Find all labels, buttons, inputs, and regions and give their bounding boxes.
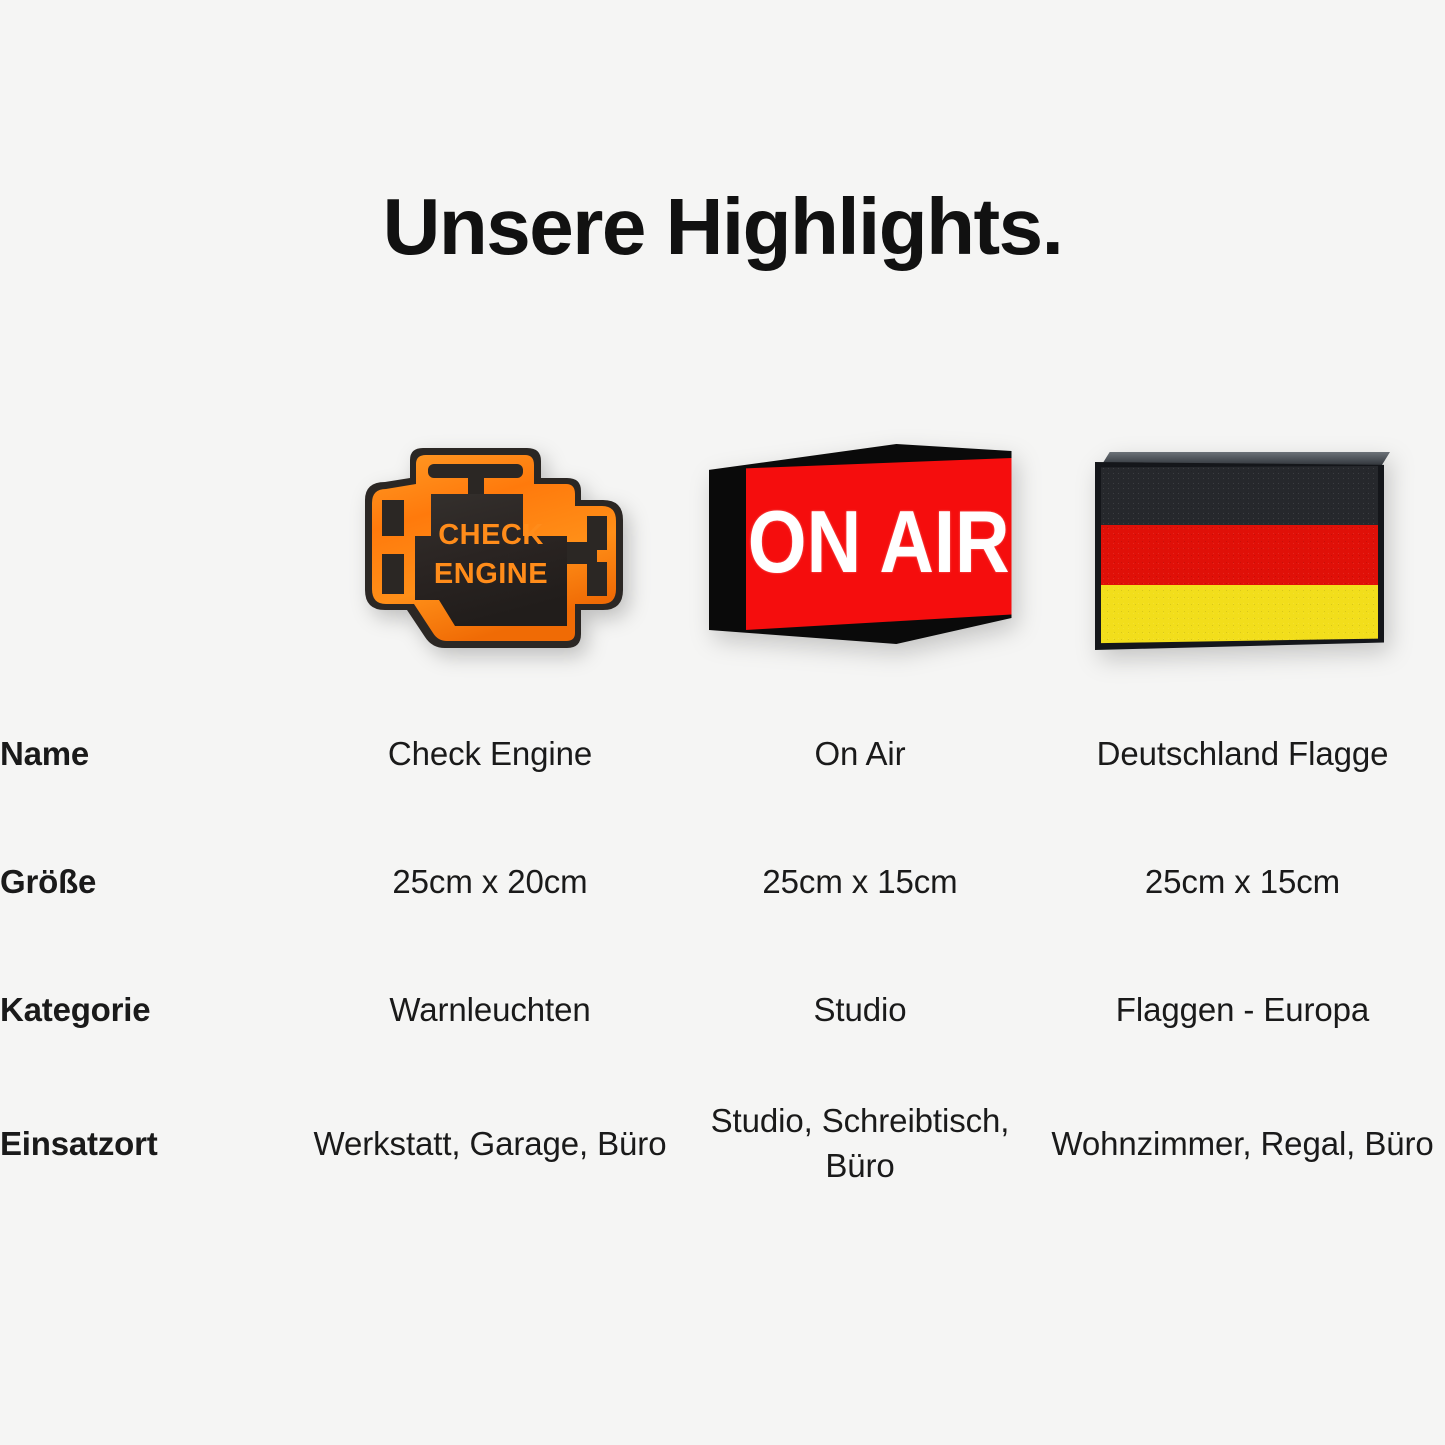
table-row-name: Name Check Engine On Air Deutschland Fla…	[0, 690, 1445, 818]
cell-kategorie-check-engine: Warnleuchten	[300, 946, 680, 1074]
check-engine-lamp-icon[interactable]: CHECK ENGINE	[335, 438, 645, 670]
deutschland-flagge-lightbox-icon[interactable]	[1095, 452, 1390, 650]
on-air-red-face: ON AIR	[746, 458, 1012, 630]
cell-groesse-deutschland-flagge: 25cm x 15cm	[1040, 818, 1445, 946]
table-row-einsatzort: Einsatzort Werkstatt, Garage, Büro Studi…	[0, 1074, 1445, 1214]
product-row-spacer	[0, 400, 300, 670]
flag-stripe-gold	[1101, 585, 1378, 644]
row-label-groesse: Größe	[0, 818, 300, 946]
cell-einsatzort-on-air: Studio, Schreibtisch, Büro	[680, 1074, 1040, 1214]
check-engine-text-line1: CHECK	[438, 519, 544, 551]
cell-kategorie-on-air: Studio	[680, 946, 1040, 1074]
page-title: Unsere Highlights.	[0, 187, 1445, 267]
cell-name-deutschland-flagge: Deutschland Flagge	[1040, 690, 1445, 818]
row-label-kategorie: Kategorie	[0, 946, 300, 1074]
cell-groesse-on-air: 25cm x 15cm	[680, 818, 1040, 946]
cell-einsatzort-deutschland-flagge: Wohnzimmer, Regal, Büro	[1040, 1074, 1445, 1214]
highlights-page: Unsere Highlights.	[0, 0, 1445, 1445]
on-air-box: ON AIR	[709, 444, 1012, 644]
cell-groesse-check-engine: 25cm x 20cm	[300, 818, 680, 946]
cell-kategorie-deutschland-flagge: Flaggen - Europa	[1040, 946, 1445, 1074]
product-comparison-table: Name Check Engine On Air Deutschland Fla…	[0, 690, 1445, 1214]
cell-einsatzort-check-engine: Werkstatt, Garage, Büro	[300, 1074, 680, 1214]
check-engine-text-line2: ENGINE	[434, 558, 548, 590]
on-air-lightbox-icon[interactable]: ON AIR	[709, 444, 1012, 656]
row-label-name: Name	[0, 690, 300, 818]
table-row-kategorie: Kategorie Warnleuchten Studio Flaggen - …	[0, 946, 1445, 1074]
product-image-cell-deutschland-flagge[interactable]	[1040, 400, 1445, 670]
product-image-row: CHECK ENGINE ON AIR	[0, 400, 1445, 670]
table-row-groesse: Größe 25cm x 20cm 25cm x 15cm 25cm x 15c…	[0, 818, 1445, 946]
row-label-einsatzort: Einsatzort	[0, 1074, 300, 1214]
flag-stripe-black	[1101, 466, 1378, 525]
cell-name-on-air: On Air	[680, 690, 1040, 818]
flag-stripe-red	[1101, 525, 1378, 584]
product-image-cell-on-air[interactable]: ON AIR	[680, 400, 1040, 670]
product-image-cell-check-engine[interactable]: CHECK ENGINE	[300, 400, 680, 670]
flag-box-face	[1101, 466, 1378, 644]
on-air-text: ON AIR	[748, 493, 1010, 595]
cell-name-check-engine: Check Engine	[300, 690, 680, 818]
